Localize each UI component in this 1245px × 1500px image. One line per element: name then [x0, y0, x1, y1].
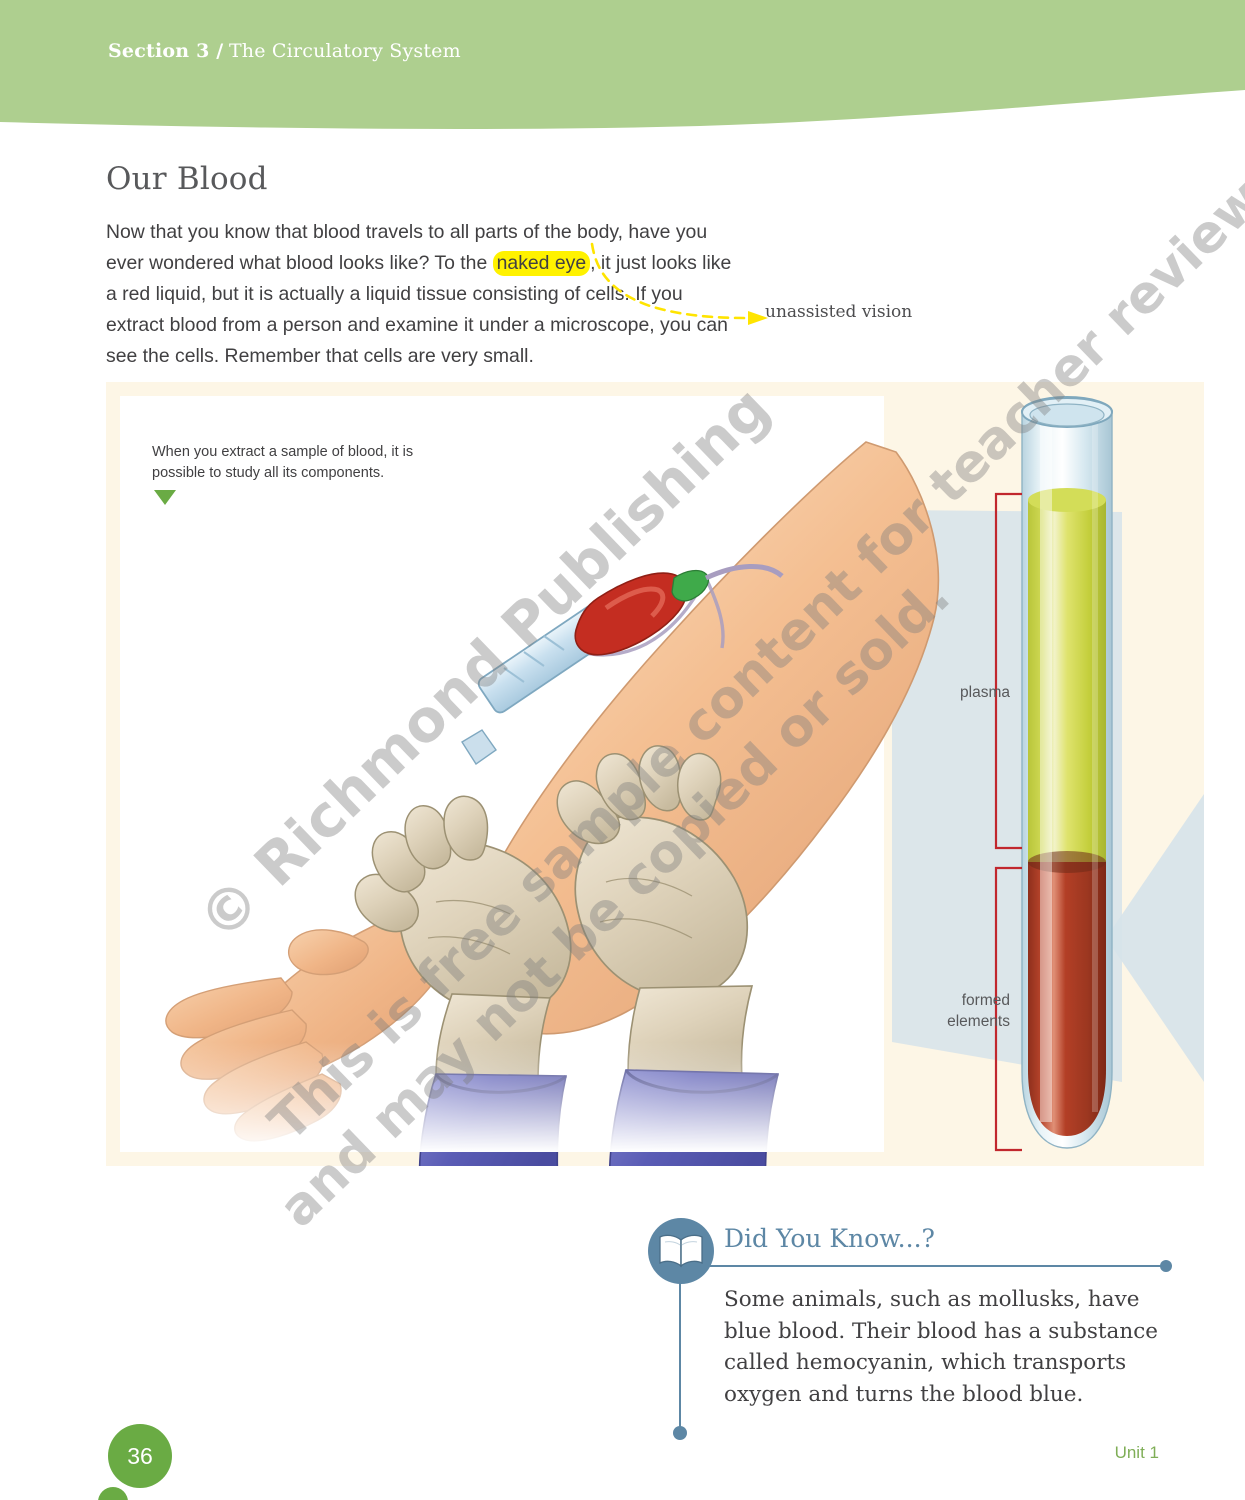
- page-header-band: [0, 0, 1245, 130]
- breadcrumb-title: The Circulatory System: [229, 40, 461, 62]
- blood-extraction-illustration: [106, 382, 1204, 1166]
- label-plasma: plasma: [906, 682, 1010, 703]
- did-you-know-rule: [706, 1265, 1168, 1267]
- caption-marker-triangle: [154, 490, 176, 505]
- page-title: Our Blood: [106, 161, 268, 197]
- blood-test-tube: [1022, 397, 1112, 1148]
- did-you-know-text: Some animals, such as mollusks, have blu…: [724, 1284, 1176, 1410]
- body-paragraph: Now that you know that blood travels to …: [106, 217, 746, 372]
- illustration-artwork: [120, 442, 938, 1166]
- did-you-know-rule-end-dot: [1160, 1260, 1172, 1272]
- did-you-know-stem-line: [679, 1278, 681, 1433]
- page-number-badge: 36: [108, 1424, 172, 1488]
- breadcrumb: Section 3 / The Circulatory System: [108, 40, 461, 63]
- textbook-page: Section 3 / The Circulatory System Our B…: [0, 0, 1245, 1500]
- highlighted-term: naked eye: [493, 251, 590, 276]
- did-you-know-stem-end-dot: [673, 1426, 687, 1440]
- figure-caption: When you extract a sample of blood, it i…: [152, 442, 442, 484]
- page-number-accent-dot: [98, 1487, 128, 1500]
- unit-label: Unit 1: [1115, 1443, 1159, 1463]
- did-you-know-box: Did You Know...? Some animals, such as m…: [648, 1218, 1188, 1438]
- figure-panel: When you extract a sample of blood, it i…: [106, 382, 1204, 1166]
- glossary-definition: unassisted vision: [765, 302, 912, 322]
- breadcrumb-section: Section 3 /: [108, 40, 223, 62]
- open-book-icon: [648, 1218, 714, 1284]
- label-formed-elements: formed elements: [896, 990, 1010, 1032]
- did-you-know-title: Did You Know...?: [724, 1224, 935, 1253]
- header-band-shape: [0, 0, 1245, 130]
